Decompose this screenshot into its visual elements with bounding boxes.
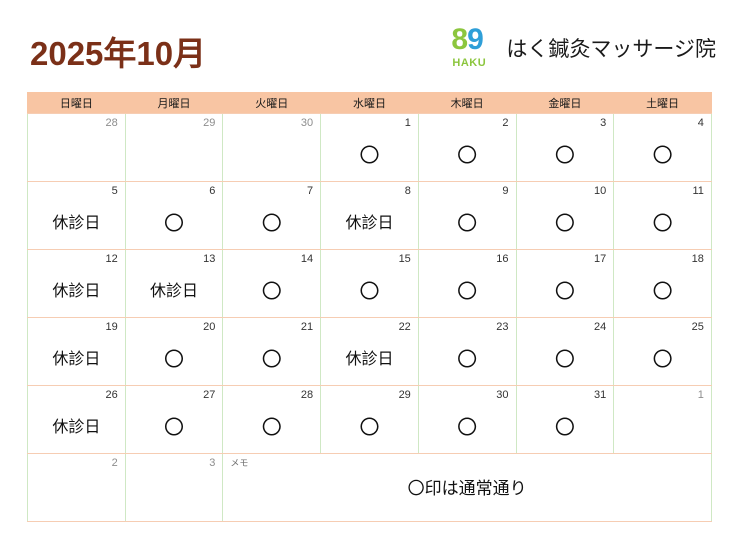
day-cell[interactable]: 29 〇 bbox=[321, 386, 419, 454]
day-status: 〇 bbox=[419, 204, 516, 244]
day-status: 〇 bbox=[419, 136, 516, 176]
day-number: 30 bbox=[496, 389, 508, 402]
weekday-header-wednesday: 水曜日 bbox=[321, 93, 419, 114]
day-status: 〇 bbox=[223, 272, 320, 312]
day-number: 24 bbox=[594, 321, 606, 334]
day-cell[interactable]: 3 bbox=[125, 454, 223, 522]
day-status: 〇 bbox=[517, 136, 614, 176]
day-status bbox=[126, 136, 223, 176]
day-cell[interactable]: 14 〇 bbox=[223, 250, 321, 318]
day-cell[interactable]: 24 〇 bbox=[516, 318, 614, 386]
memo-label: メモ bbox=[230, 458, 248, 469]
day-number: 27 bbox=[203, 389, 215, 402]
calendar-week-row: 12 休診日 13 休診日 14 〇 15 〇 16 〇 bbox=[28, 250, 712, 318]
day-number: 28 bbox=[105, 117, 117, 130]
day-cell[interactable]: 2 〇 bbox=[418, 114, 516, 182]
day-number: 3 bbox=[600, 117, 606, 130]
day-cell[interactable]: 21 〇 bbox=[223, 318, 321, 386]
day-cell[interactable]: 10 〇 bbox=[516, 182, 614, 250]
day-status: 〇 bbox=[126, 204, 223, 244]
page-header: 2025年10月 89 HAKU はく鍼灸マッサージ院 bbox=[0, 0, 738, 90]
day-cell[interactable]: 18 〇 bbox=[614, 250, 712, 318]
day-number: 7 bbox=[307, 185, 313, 198]
day-cell[interactable]: 22 休診日 bbox=[321, 318, 419, 386]
clinic-branding: 89 HAKU はく鍼灸マッサージ院 bbox=[451, 24, 716, 72]
calendar-week-row: 19 休診日 20 〇 21 〇 22 休診日 23 〇 bbox=[28, 318, 712, 386]
calendar-week-row: 5 休診日 6 〇 7 〇 8 休診日 9 〇 bbox=[28, 182, 712, 250]
day-status: 〇 bbox=[614, 272, 711, 312]
day-status: 休診日 bbox=[28, 340, 125, 380]
day-status: 休診日 bbox=[28, 408, 125, 448]
day-number: 2 bbox=[112, 457, 118, 470]
day-number: 17 bbox=[594, 253, 606, 266]
day-status bbox=[614, 408, 711, 448]
day-status bbox=[126, 476, 223, 516]
day-status bbox=[28, 136, 125, 176]
day-number: 31 bbox=[594, 389, 606, 402]
day-status: 〇 bbox=[419, 340, 516, 380]
weekday-header-monday: 月曜日 bbox=[125, 93, 223, 114]
day-cell[interactable]: 6 〇 bbox=[125, 182, 223, 250]
weekday-header-thursday: 木曜日 bbox=[418, 93, 516, 114]
day-cell[interactable]: 2 bbox=[28, 454, 126, 522]
day-cell[interactable]: 16 〇 bbox=[418, 250, 516, 318]
day-cell[interactable]: 25 〇 bbox=[614, 318, 712, 386]
day-cell[interactable]: 30 〇 bbox=[418, 386, 516, 454]
day-cell[interactable]: 11 〇 bbox=[614, 182, 712, 250]
day-cell[interactable]: 26 休診日 bbox=[28, 386, 126, 454]
day-number: 10 bbox=[594, 185, 606, 198]
day-cell[interactable]: 7 〇 bbox=[223, 182, 321, 250]
day-cell[interactable]: 27 〇 bbox=[125, 386, 223, 454]
day-number: 29 bbox=[203, 117, 215, 130]
day-cell[interactable]: 17 〇 bbox=[516, 250, 614, 318]
day-number: 11 bbox=[693, 185, 704, 198]
day-number: 14 bbox=[301, 253, 313, 266]
day-status: 〇 bbox=[223, 408, 320, 448]
day-number: 23 bbox=[496, 321, 508, 334]
day-number: 15 bbox=[399, 253, 411, 266]
calendar-body: 28 29 30 1 〇 2 〇 bbox=[28, 114, 712, 522]
logo-digit-8: 8 bbox=[451, 23, 467, 56]
day-cell[interactable]: 5 休診日 bbox=[28, 182, 126, 250]
day-cell[interactable]: 20 〇 bbox=[125, 318, 223, 386]
clinic-name: はく鍼灸マッサージ院 bbox=[506, 33, 716, 63]
day-number: 8 bbox=[405, 185, 411, 198]
day-status: 休診日 bbox=[28, 204, 125, 244]
day-number: 3 bbox=[209, 457, 215, 470]
weekday-header-tuesday: 火曜日 bbox=[223, 93, 321, 114]
day-number: 22 bbox=[399, 321, 411, 334]
day-status: 〇 bbox=[614, 340, 711, 380]
day-status: 〇 bbox=[321, 272, 418, 312]
day-status: 〇 bbox=[614, 204, 711, 244]
day-cell[interactable]: 8 休診日 bbox=[321, 182, 419, 250]
day-status: 〇 bbox=[419, 408, 516, 448]
day-number: 1 bbox=[698, 389, 704, 402]
day-cell[interactable]: 1 bbox=[614, 386, 712, 454]
day-status: 〇 bbox=[321, 136, 418, 176]
day-number: 4 bbox=[698, 117, 704, 130]
day-cell[interactable]: 29 bbox=[125, 114, 223, 182]
day-cell[interactable]: 9 〇 bbox=[418, 182, 516, 250]
day-status: 休診日 bbox=[28, 272, 125, 312]
day-number: 28 bbox=[301, 389, 313, 402]
day-status: 〇 bbox=[126, 340, 223, 380]
day-cell[interactable]: 3 〇 bbox=[516, 114, 614, 182]
calendar-memo-row: 2 3 メモ 〇印は通常通り bbox=[28, 454, 712, 522]
weekday-header-sunday: 日曜日 bbox=[28, 93, 126, 114]
day-status: 〇 bbox=[223, 340, 320, 380]
monthly-calendar-table: 日曜日 月曜日 火曜日 水曜日 木曜日 金曜日 土曜日 28 29 bbox=[27, 92, 712, 522]
calendar-week-row: 28 29 30 1 〇 2 〇 bbox=[28, 114, 712, 182]
day-number: 25 bbox=[692, 321, 704, 334]
weekday-header-friday: 金曜日 bbox=[516, 93, 614, 114]
weekday-header-row: 日曜日 月曜日 火曜日 水曜日 木曜日 金曜日 土曜日 bbox=[28, 93, 712, 114]
day-number: 9 bbox=[502, 185, 508, 198]
day-number: 5 bbox=[112, 185, 118, 198]
day-cell[interactable]: 30 bbox=[223, 114, 321, 182]
day-status: 〇 bbox=[517, 272, 614, 312]
day-number: 21 bbox=[301, 321, 313, 334]
day-cell[interactable]: 15 〇 bbox=[321, 250, 419, 318]
day-cell[interactable]: 28 〇 bbox=[223, 386, 321, 454]
day-number: 16 bbox=[496, 253, 508, 266]
weekday-header-saturday: 土曜日 bbox=[614, 93, 712, 114]
day-number: 20 bbox=[203, 321, 215, 334]
day-number: 18 bbox=[692, 253, 704, 266]
day-status: 〇 bbox=[517, 204, 614, 244]
day-number: 26 bbox=[105, 389, 117, 402]
logo-digits: 89 bbox=[451, 24, 482, 56]
calendar-page: 2025年10月 89 HAKU はく鍼灸マッサージ院 日曜日 月曜日 火曜日 … bbox=[0, 0, 738, 544]
day-number: 29 bbox=[399, 389, 411, 402]
day-cell[interactable]: 1 〇 bbox=[321, 114, 419, 182]
day-number: 13 bbox=[203, 253, 215, 266]
day-status: 〇 bbox=[614, 136, 711, 176]
day-cell[interactable]: 19 休診日 bbox=[28, 318, 126, 386]
day-cell[interactable]: 13 休診日 bbox=[125, 250, 223, 318]
day-number: 6 bbox=[209, 185, 215, 198]
day-status: 休診日 bbox=[321, 340, 418, 380]
day-status: 〇 bbox=[419, 272, 516, 312]
day-cell[interactable]: 4 〇 bbox=[614, 114, 712, 182]
day-number: 19 bbox=[105, 321, 117, 334]
day-number: 30 bbox=[301, 117, 313, 130]
memo-note-text: 〇印は通常通り bbox=[223, 478, 711, 500]
day-status: 休診日 bbox=[126, 272, 223, 312]
logo-subtext: HAKU bbox=[452, 57, 486, 69]
day-status: 〇 bbox=[126, 408, 223, 448]
haku-logo-icon: 89 HAKU bbox=[451, 24, 497, 72]
day-cell[interactable]: 31 〇 bbox=[516, 386, 614, 454]
day-cell[interactable]: 28 bbox=[28, 114, 126, 182]
day-cell[interactable]: 23 〇 bbox=[418, 318, 516, 386]
day-status: 休診日 bbox=[321, 204, 418, 244]
page-title: 2025年10月 bbox=[30, 27, 206, 75]
day-status: 〇 bbox=[321, 408, 418, 448]
day-cell[interactable]: 12 休診日 bbox=[28, 250, 126, 318]
calendar-week-row: 26 休診日 27 〇 28 〇 29 〇 30 〇 bbox=[28, 386, 712, 454]
day-status: 〇 bbox=[517, 408, 614, 448]
day-number: 2 bbox=[502, 117, 508, 130]
day-number: 12 bbox=[105, 253, 117, 266]
day-status: 〇 bbox=[223, 204, 320, 244]
day-status bbox=[223, 136, 320, 176]
memo-cell[interactable]: メモ 〇印は通常通り bbox=[223, 454, 712, 522]
day-status bbox=[28, 476, 125, 516]
day-status: 〇 bbox=[517, 340, 614, 380]
logo-digit-9: 9 bbox=[467, 23, 483, 56]
day-number: 1 bbox=[405, 117, 411, 130]
